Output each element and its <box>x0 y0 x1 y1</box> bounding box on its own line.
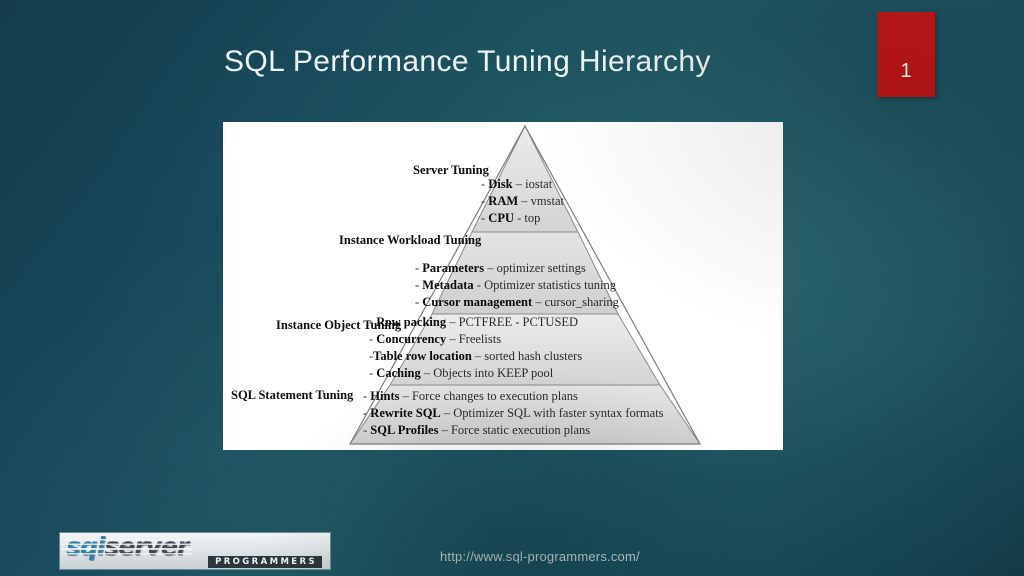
logo-wordmark: sqlserver <box>66 534 188 560</box>
tier-item: - Parameters – optimizer settings <box>415 260 619 277</box>
tier-item: - Metadata - Optimizer statistics tuning <box>415 277 619 294</box>
page-title: SQL Performance Tuning Hierarchy <box>224 44 844 80</box>
tier-label-line: SQL <box>231 388 255 402</box>
tier-item: - SQL Profiles – Force static execution … <box>363 422 664 439</box>
footer-url: http://www.sql-programmers.com/ <box>440 549 640 564</box>
tier-label-line: Instance <box>276 318 321 332</box>
tier-item: - RAM – vmstat <box>481 193 564 210</box>
logo-subtitle: PROGRAMMERS <box>208 556 322 568</box>
tier-items-server-tuning: - Disk – iostat - RAM – vmstat - CPU - t… <box>481 176 564 227</box>
tier-label-instance-workload-tuning: Instance Workload Tuning <box>339 233 481 248</box>
tier-item: - Hints – Force changes to execution pla… <box>363 388 664 405</box>
tier-item: - Cursor management – cursor_sharing <box>415 294 619 311</box>
tier-item: - Concurrency – Freelists <box>369 331 582 348</box>
tier-items-instance-workload-tuning: - Parameters – optimizer settings - Meta… <box>415 260 619 311</box>
logo-word-server: server <box>104 533 188 561</box>
sql-server-programmers-logo: sqlserver PROGRAMMERS <box>60 533 330 569</box>
tier-item: -Table row location – sorted hash cluste… <box>369 348 582 365</box>
tier-label-line: Tuning <box>451 163 489 177</box>
tier-item: - CPU - top <box>481 210 564 227</box>
tier-label-line: Tuning <box>316 388 354 402</box>
tier-label-line: Instance <box>339 233 384 247</box>
tier-label-line: Server <box>413 163 448 177</box>
tier-label-sql-statement-tuning: SQL Statement Tuning <box>231 388 353 403</box>
tier-items-sql-statement-tuning: - Hints – Force changes to execution pla… <box>363 388 664 439</box>
tier-item: - Caching – Objects into KEEP pool <box>369 365 582 382</box>
slide-number-text: 1 <box>877 60 935 83</box>
tier-label-line: Object <box>324 318 360 332</box>
tier-label-line: Workload <box>387 233 441 247</box>
tier-items-instance-object-tuning: - Row packing – PCTFREE - PCTUSED - Conc… <box>369 314 582 382</box>
tier-label-server-tuning: Server Tuning <box>413 163 489 178</box>
tier-item: - Row packing – PCTFREE - PCTUSED <box>369 314 582 331</box>
tier-label-line: Statement <box>258 388 312 402</box>
tier-label-line: Tuning <box>443 233 481 247</box>
logo-word-sql: sql <box>66 533 104 561</box>
slide-canvas: SQL Performance Tuning Hierarchy 1 <box>0 0 1024 576</box>
tier-item: - Disk – iostat <box>481 176 564 193</box>
slide-number-badge: 1 <box>877 12 935 97</box>
pyramid-diagram: Server Tuning - Disk – iostat - RAM – vm… <box>223 122 783 450</box>
tier-item: - Rewrite SQL – Optimizer SQL with faste… <box>363 405 664 422</box>
pyramid-image-panel: Server Tuning - Disk – iostat - RAM – vm… <box>223 122 783 450</box>
